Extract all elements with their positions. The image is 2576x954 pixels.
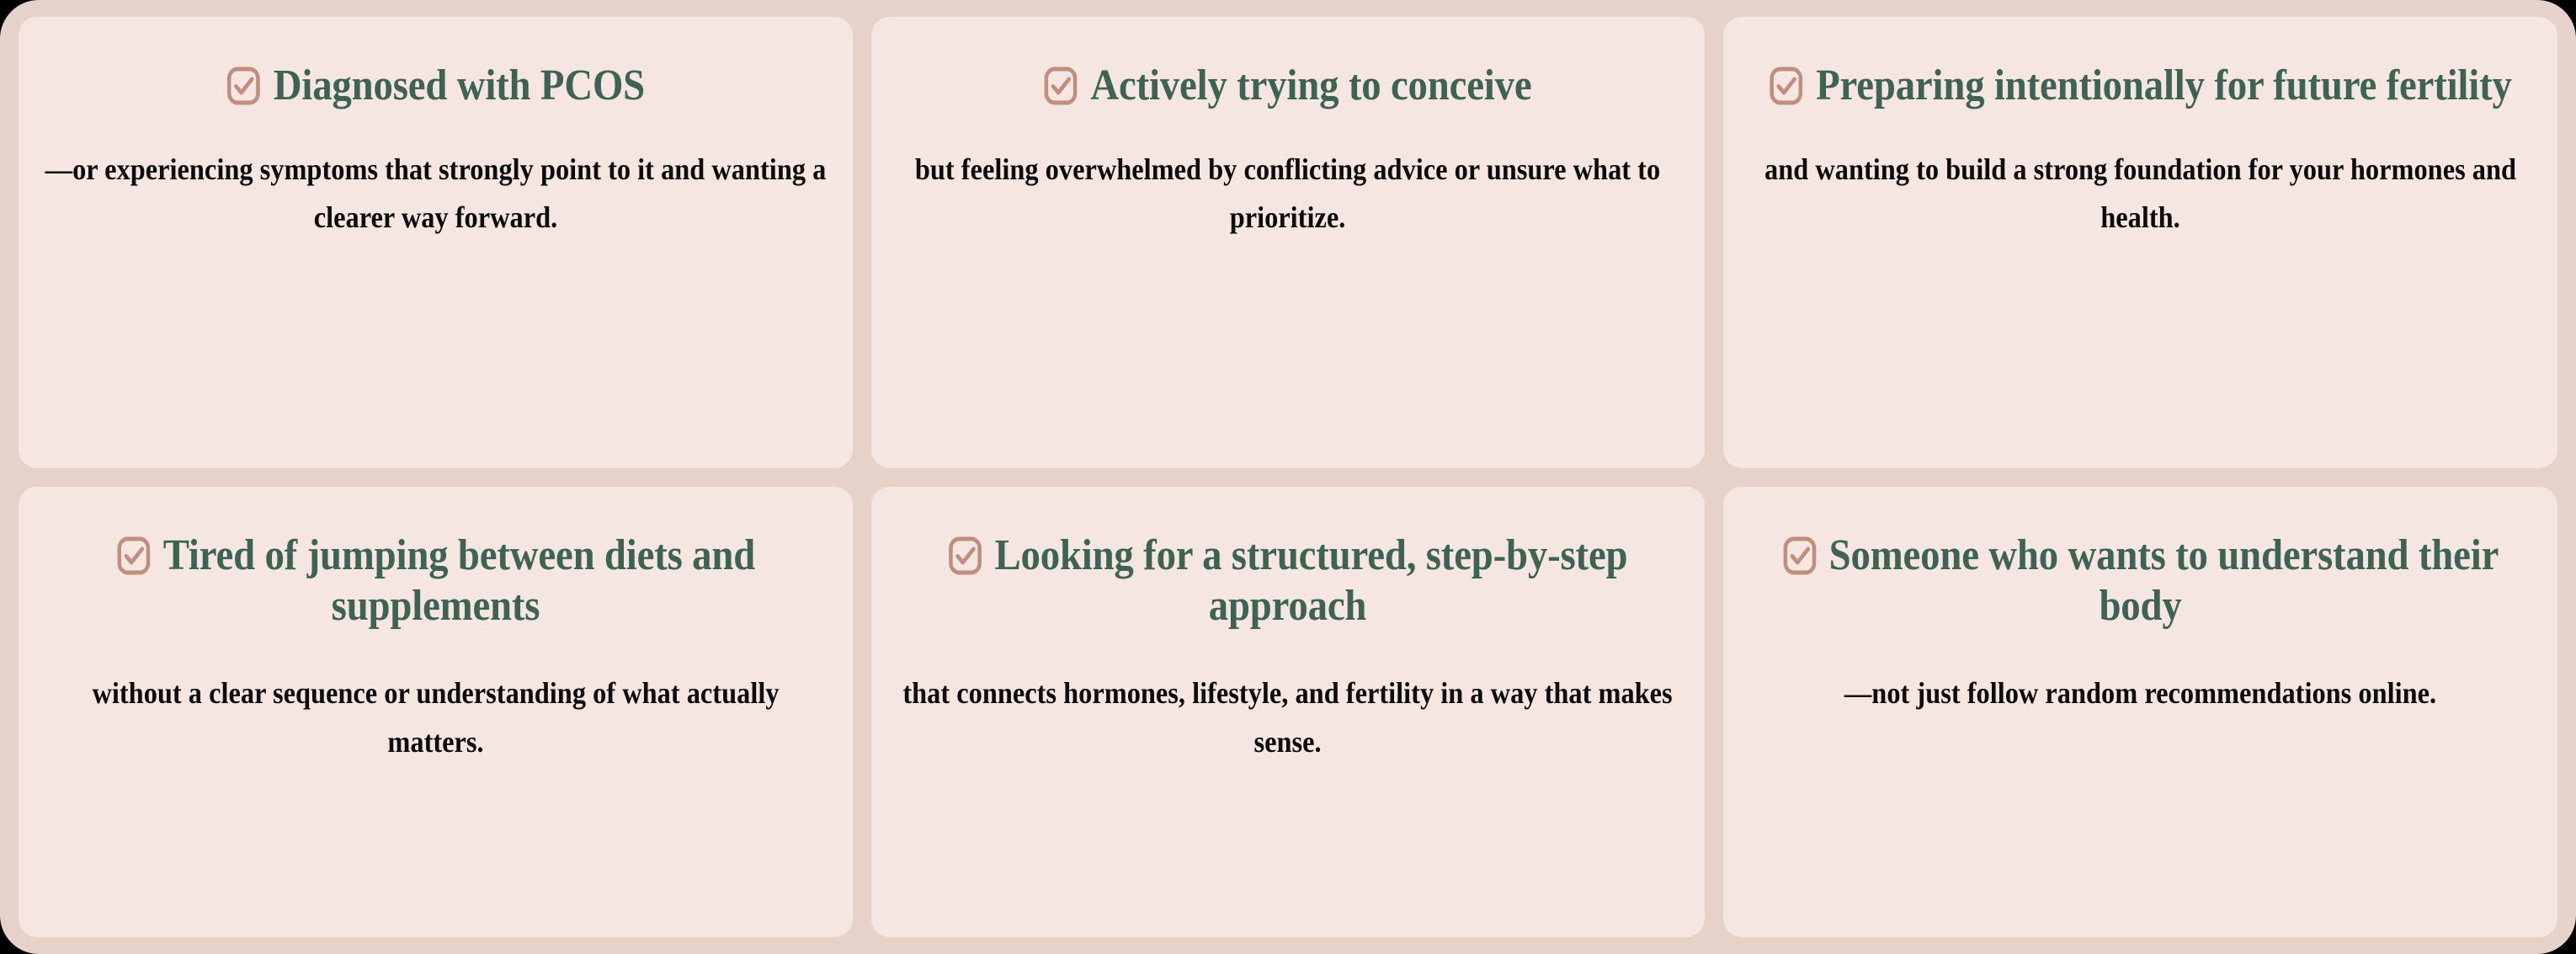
- checkbox-checked-icon: [116, 536, 151, 575]
- card-body-text: but feeling overwhelmed by conflicting a…: [897, 146, 1679, 242]
- card-heading: Preparing intentionally for future ferti…: [1749, 61, 2532, 112]
- card-body-text: —not just follow random recommendations …: [1749, 669, 2532, 718]
- checklist-card[interactable]: Tired of jumping between diets and suppl…: [19, 487, 853, 938]
- card-heading: Tired of jumping between diets and suppl…: [44, 530, 827, 633]
- card-heading-text: Tired of jumping between diets and suppl…: [163, 531, 755, 631]
- checklist-card[interactable]: Preparing intentionally for future ferti…: [1723, 17, 2557, 468]
- checkbox-checked-icon: [1044, 67, 1078, 105]
- card-heading-text: Preparing intentionally for future ferti…: [1816, 61, 2512, 109]
- checklist-container: Diagnosed with PCOS —or experiencing sym…: [0, 0, 2576, 954]
- card-body-text: and wanting to build a strong foundation…: [1749, 146, 2532, 242]
- card-body-text: that connects hormones, lifestyle, and f…: [897, 669, 1679, 766]
- checkbox-checked-icon: [948, 536, 982, 575]
- card-body-text: without a clear sequence or understandin…: [44, 669, 827, 766]
- card-heading: Someone who wants to understand their bo…: [1749, 530, 2532, 633]
- card-heading-text: Actively trying to conceive: [1091, 61, 1532, 109]
- checkbox-checked-icon: [1782, 536, 1817, 575]
- checklist-card[interactable]: Diagnosed with PCOS —or experiencing sym…: [19, 17, 853, 468]
- checklist-card[interactable]: Looking for a structured, step-by-step a…: [871, 487, 1706, 938]
- card-body-text: —or experiencing symptoms that strongly …: [44, 146, 827, 242]
- card-heading-text: Diagnosed with PCOS: [274, 61, 645, 109]
- card-heading: Looking for a structured, step-by-step a…: [897, 530, 1679, 633]
- card-heading-text: Looking for a structured, step-by-step a…: [995, 531, 1628, 631]
- checklist-grid: Diagnosed with PCOS —or experiencing sym…: [19, 17, 2557, 937]
- card-heading: Diagnosed with PCOS: [44, 61, 827, 112]
- card-heading: Actively trying to conceive: [897, 61, 1679, 112]
- checklist-card[interactable]: Actively trying to conceive but feeling …: [871, 17, 1706, 468]
- checkbox-checked-icon: [226, 67, 261, 105]
- card-heading-text: Someone who wants to understand their bo…: [1829, 531, 2499, 631]
- checkbox-checked-icon: [1769, 67, 1803, 105]
- checklist-card[interactable]: Someone who wants to understand their bo…: [1723, 487, 2557, 938]
